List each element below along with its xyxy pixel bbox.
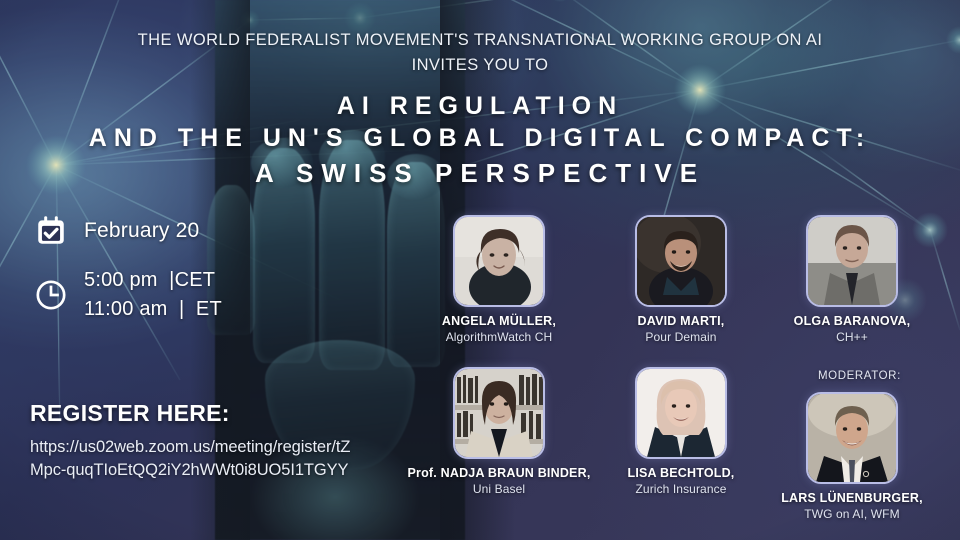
organization-kicker: THE WORLD FEDERALIST MOVEMENT'S TRANSNAT…	[0, 28, 960, 78]
portrait-david-marti	[637, 217, 725, 305]
speaker-card-nadja-braun-binder: Prof. NADJA BRAUN BINDER, Uni Basel	[399, 367, 599, 496]
speaker-name: ANGELA MÜLLER,	[439, 314, 559, 328]
speaker-name: LARS LÜNENBURGER,	[777, 491, 927, 505]
moderator-label: MODERATOR:	[818, 370, 901, 382]
title-line-1: AI REGULATION	[0, 90, 960, 122]
register-heading: REGISTER HERE:	[30, 400, 350, 427]
portrait-nadja-braun-binder	[455, 369, 543, 457]
speaker-org: AlgorithmWatch CH	[439, 330, 559, 344]
title-line-2: AND THE UN'S GLOBAL DIGITAL COMPACT:	[0, 122, 960, 154]
register-url-line-1: https://us02web.zoom.us/meeting/register…	[30, 436, 350, 459]
speaker-card-david-marti: DAVID MARTI, Pour Demain	[621, 215, 741, 344]
avatar	[806, 392, 898, 484]
time-cet: 5:00 pm |CET	[84, 266, 222, 295]
speaker-card-lars-lunenburger: LARS LÜNENBURGER, TWG on AI, WFM	[777, 392, 927, 521]
speaker-org: CH++	[787, 330, 917, 344]
avatar	[806, 215, 898, 307]
registration-block: REGISTER HERE: https://us02web.zoom.us/m…	[30, 400, 350, 482]
kicker-line-2: INVITES YOU TO	[0, 53, 960, 78]
speaker-org: Pour Demain	[621, 330, 741, 344]
event-times: 5:00 pm |CET 11:00 am | ET	[84, 266, 222, 324]
speaker-card-angela-muller: ANGELA MÜLLER, AlgorithmWatch CH	[439, 215, 559, 344]
date-row: February 20	[30, 210, 222, 252]
clock-icon	[30, 274, 72, 316]
event-date: February 20	[84, 219, 199, 243]
time-row: 5:00 pm |CET 11:00 am | ET	[30, 266, 222, 324]
speaker-org: TWG on AI, WFM	[777, 507, 927, 521]
page-title: AI REGULATION AND THE UN'S GLOBAL DIGITA…	[0, 90, 960, 190]
event-details: February 20 5:00 pm |CET 11:00 am | ET	[30, 210, 222, 324]
speaker-org: Uni Basel	[399, 482, 599, 496]
register-link[interactable]: https://us02web.zoom.us/meeting/register…	[30, 436, 350, 482]
avatar	[453, 215, 545, 307]
calendar-check-icon	[30, 210, 72, 252]
avatar	[635, 215, 727, 307]
portrait-angela-muller	[455, 217, 543, 305]
speaker-name: DAVID MARTI,	[621, 314, 741, 328]
register-url-line-2: Mpc-quqTIoEtQQ2iY2hWWt0i8UO5I1TGYY	[30, 459, 350, 482]
time-et: 11:00 am | ET	[84, 295, 222, 324]
avatar	[453, 367, 545, 459]
speaker-org: Zurich Insurance	[611, 482, 751, 496]
title-line-3: A SWISS PERSPECTIVE	[0, 156, 960, 190]
speaker-name: LISA BECHTOLD,	[611, 466, 751, 480]
kicker-line-1: THE WORLD FEDERALIST MOVEMENT'S TRANSNAT…	[0, 28, 960, 53]
speaker-card-olga-baranova: OLGA BARANOVA, CH++	[787, 215, 917, 344]
webinar-poster: THE WORLD FEDERALIST MOVEMENT'S TRANSNAT…	[0, 0, 960, 540]
portrait-lisa-bechtold	[637, 369, 725, 457]
speaker-name: OLGA BARANOVA,	[787, 314, 917, 328]
portrait-olga-baranova	[808, 217, 896, 305]
speaker-card-lisa-bechtold: LISA BECHTOLD, Zurich Insurance	[611, 367, 751, 496]
avatar	[635, 367, 727, 459]
portrait-lars-lunenburger	[808, 394, 896, 482]
speaker-name: Prof. NADJA BRAUN BINDER,	[399, 466, 599, 480]
